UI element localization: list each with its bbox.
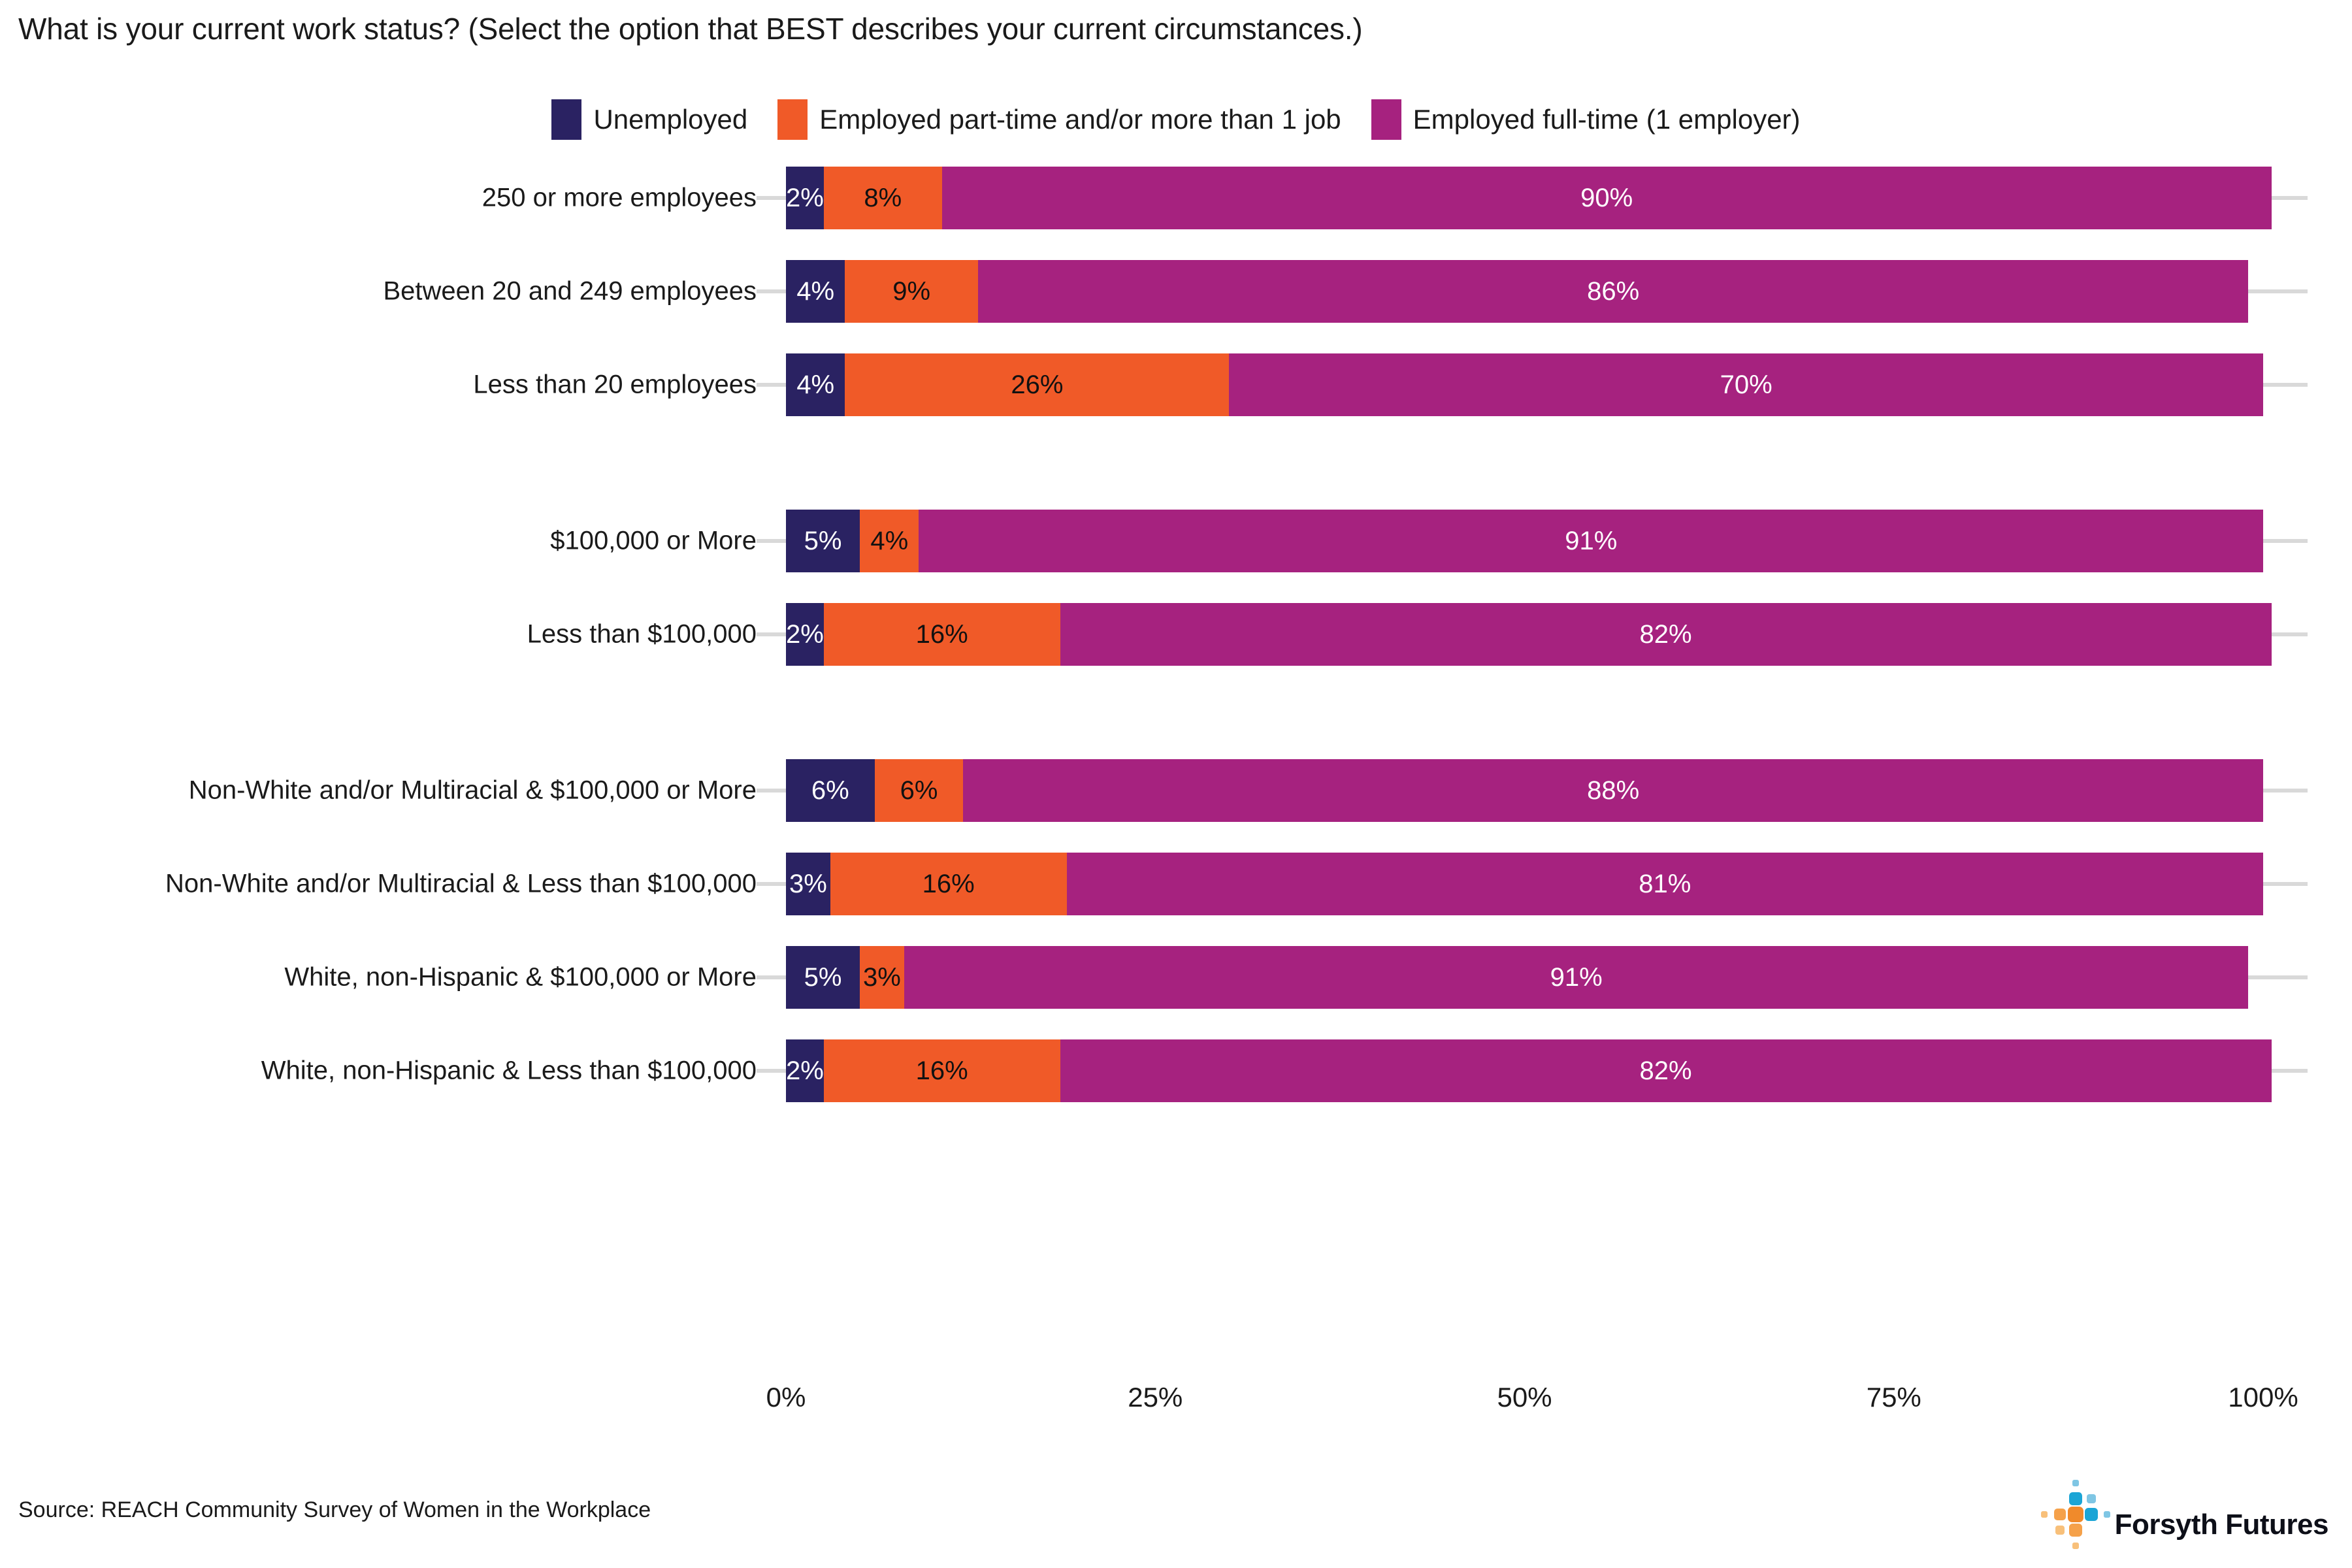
x-axis-tick: 0% bbox=[766, 1382, 806, 1413]
bar-segment[interactable]: 16% bbox=[824, 603, 1060, 666]
chart-row: Less than 20 employees4%26%70% bbox=[0, 353, 2352, 416]
x-axis-tick: 75% bbox=[1867, 1382, 1921, 1413]
bar-segment-value: 90% bbox=[1580, 184, 1633, 213]
stacked-bar[interactable]: 6%6%88% bbox=[786, 759, 2263, 822]
bar-segment[interactable]: 3% bbox=[860, 946, 904, 1009]
x-axis-tick-labels: 0%25%50%75%100% bbox=[786, 1382, 2263, 1421]
bar-segment[interactable]: 2% bbox=[786, 167, 824, 229]
bar-segment-value: 16% bbox=[923, 870, 975, 899]
logo-dot bbox=[2041, 1511, 2048, 1518]
bar-segment[interactable]: 81% bbox=[1067, 853, 2263, 915]
bar-segment[interactable]: 82% bbox=[1060, 603, 2272, 666]
bar-segment-value: 81% bbox=[1639, 870, 1691, 899]
bar-segment-value: 86% bbox=[1587, 277, 1639, 306]
chart-row: White, non-Hispanic & $100,000 or More5%… bbox=[0, 946, 2352, 1009]
bar-segment[interactable]: 4% bbox=[860, 510, 919, 572]
bar-segment-value: 16% bbox=[916, 1056, 968, 1086]
legend-label-unemployed: Unemployed bbox=[593, 104, 747, 135]
bar-segment[interactable]: 82% bbox=[1060, 1039, 2272, 1102]
stacked-bar[interactable]: 2%16%82% bbox=[786, 603, 2263, 666]
legend-swatch-unemployed bbox=[551, 99, 581, 140]
chart-row: Non-White and/or Multiracial & $100,000 … bbox=[0, 759, 2352, 822]
bar-segment-value: 4% bbox=[796, 277, 834, 306]
bar-segment[interactable]: 26% bbox=[845, 353, 1229, 416]
bar-segment-value: 70% bbox=[1720, 370, 1772, 400]
bar-segment[interactable]: 4% bbox=[786, 353, 845, 416]
chart-row: Less than $100,0002%16%82% bbox=[0, 603, 2352, 666]
bar-segment[interactable]: 2% bbox=[786, 1039, 824, 1102]
forsyth-futures-logo: Forsyth Futures bbox=[2033, 1469, 2328, 1550]
bar-segment-value: 3% bbox=[789, 870, 827, 899]
stacked-bar[interactable]: 2%16%82% bbox=[786, 1039, 2263, 1102]
bar-segment-value: 4% bbox=[870, 527, 908, 556]
bar-segment[interactable]: 5% bbox=[786, 510, 860, 572]
bar-segment[interactable]: 2% bbox=[786, 603, 824, 666]
logo-dot bbox=[2054, 1509, 2066, 1520]
x-axis-tick: 100% bbox=[2228, 1382, 2298, 1413]
bar-segment[interactable]: 5% bbox=[786, 946, 860, 1009]
bar-segment-value: 5% bbox=[804, 963, 842, 992]
category-label: Non-White and/or Multiracial & $100,000 … bbox=[25, 776, 757, 806]
category-label: Less than 20 employees bbox=[25, 370, 757, 400]
bar-segment-value: 6% bbox=[900, 776, 938, 806]
category-label: 250 or more employees bbox=[25, 184, 757, 213]
category-label: Less than $100,000 bbox=[25, 620, 757, 649]
page-title: What is your current work status? (Selec… bbox=[18, 12, 1362, 46]
bar-segment[interactable]: 8% bbox=[824, 167, 942, 229]
bar-segment-value: 9% bbox=[892, 277, 930, 306]
bar-segment[interactable]: 16% bbox=[830, 853, 1067, 915]
bar-segment-value: 16% bbox=[916, 620, 968, 649]
bar-segment-value: 2% bbox=[786, 184, 824, 213]
bar-segment[interactable]: 90% bbox=[942, 167, 2272, 229]
bar-segment[interactable]: 91% bbox=[904, 946, 2249, 1009]
stacked-bar[interactable]: 2%8%90% bbox=[786, 167, 2263, 229]
stacked-bar[interactable]: 3%16%81% bbox=[786, 853, 2263, 915]
bar-segment-value: 5% bbox=[804, 527, 842, 556]
category-label: White, non-Hispanic & Less than $100,000 bbox=[25, 1056, 757, 1086]
chart-row: Non-White and/or Multiracial & Less than… bbox=[0, 853, 2352, 915]
logo-dot bbox=[2072, 1543, 2079, 1549]
logo-dot bbox=[2069, 1492, 2082, 1505]
bar-segment[interactable]: 6% bbox=[875, 759, 964, 822]
legend-label-part-time: Employed part-time and/or more than 1 jo… bbox=[819, 104, 1341, 135]
bar-segment-value: 8% bbox=[864, 184, 902, 213]
bar-segment-value: 2% bbox=[786, 620, 824, 649]
logo-dot bbox=[2068, 1507, 2083, 1522]
chart-row: White, non-Hispanic & Less than $100,000… bbox=[0, 1039, 2352, 1102]
legend-swatch-part-time bbox=[777, 99, 808, 140]
bar-segment-value: 4% bbox=[796, 370, 834, 400]
logo-dot bbox=[2085, 1508, 2098, 1521]
bar-segment[interactable]: 88% bbox=[963, 759, 2263, 822]
stacked-bar[interactable]: 5%3%91% bbox=[786, 946, 2263, 1009]
x-axis-tick: 25% bbox=[1128, 1382, 1183, 1413]
chart-row: 250 or more employees2%8%90% bbox=[0, 167, 2352, 229]
stacked-bar[interactable]: 5%4%91% bbox=[786, 510, 2263, 572]
logo-dot bbox=[2072, 1480, 2079, 1486]
bar-segment[interactable]: 4% bbox=[786, 260, 845, 323]
logo-wordmark: Forsyth Futures bbox=[2115, 1511, 2328, 1550]
bar-segment-value: 26% bbox=[1011, 370, 1063, 400]
bar-segment[interactable]: 3% bbox=[786, 853, 830, 915]
category-label: Non-White and/or Multiracial & Less than… bbox=[25, 870, 757, 899]
stacked-bar[interactable]: 4%26%70% bbox=[786, 353, 2263, 416]
bar-segment[interactable]: 9% bbox=[845, 260, 977, 323]
legend-item-unemployed[interactable]: Unemployed bbox=[551, 99, 747, 140]
bar-segment-value: 88% bbox=[1587, 776, 1639, 806]
logo-dot bbox=[2104, 1511, 2110, 1518]
logo-dot bbox=[2087, 1494, 2096, 1503]
chart-row: Between 20 and 249 employees4%9%86% bbox=[0, 260, 2352, 323]
bar-segment[interactable]: 16% bbox=[824, 1039, 1060, 1102]
legend-label-full-time: Employed full-time (1 employer) bbox=[1413, 104, 1801, 135]
bar-segment-value: 6% bbox=[811, 776, 849, 806]
source-note: Source: REACH Community Survey of Women … bbox=[18, 1497, 651, 1523]
bar-segment-value: 3% bbox=[863, 963, 901, 992]
x-axis-tick: 50% bbox=[1497, 1382, 1552, 1413]
category-label: White, non-Hispanic & $100,000 or More bbox=[25, 963, 757, 992]
legend-swatch-full-time bbox=[1371, 99, 1401, 140]
chart-plot-area: 250 or more employees2%8%90%Between 20 a… bbox=[0, 167, 2352, 1362]
logo-dot bbox=[2069, 1524, 2082, 1537]
forsyth-futures-dot-cross-icon bbox=[2033, 1471, 2111, 1550]
stacked-bar[interactable]: 4%9%86% bbox=[786, 260, 2263, 323]
bar-segment[interactable]: 6% bbox=[786, 759, 875, 822]
category-label: $100,000 or More bbox=[25, 527, 757, 556]
bar-segment-value: 91% bbox=[1550, 963, 1603, 992]
bar-segment-value: 82% bbox=[1640, 1056, 1692, 1086]
category-label: Between 20 and 249 employees bbox=[25, 277, 757, 306]
logo-dot bbox=[2055, 1526, 2065, 1535]
bar-segment[interactable]: 70% bbox=[1229, 353, 2263, 416]
bar-segment[interactable]: 91% bbox=[919, 510, 2263, 572]
chart-legend: Unemployed Employed part-time and/or mor… bbox=[0, 99, 2352, 140]
bar-segment-value: 91% bbox=[1565, 527, 1617, 556]
bar-segment[interactable]: 86% bbox=[978, 260, 2248, 323]
legend-item-part-time[interactable]: Employed part-time and/or more than 1 jo… bbox=[777, 99, 1341, 140]
legend-item-full-time[interactable]: Employed full-time (1 employer) bbox=[1371, 99, 1801, 140]
bar-segment-value: 82% bbox=[1640, 620, 1692, 649]
chart-row: $100,000 or More5%4%91% bbox=[0, 510, 2352, 572]
bar-segment-value: 2% bbox=[786, 1056, 824, 1086]
